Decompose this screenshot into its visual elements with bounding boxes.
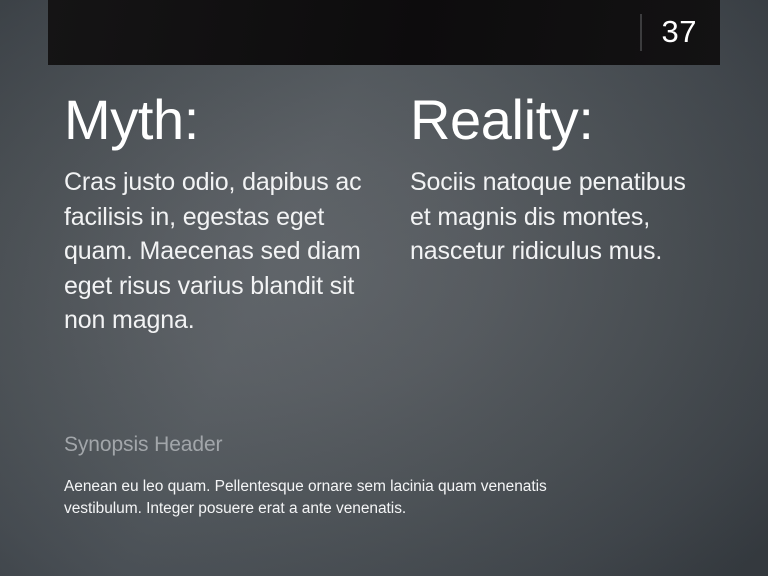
- column-myth: Myth: Cras justo odio, dapibus ac facili…: [64, 89, 384, 338]
- header-divider: [640, 14, 642, 51]
- synopsis-section: Synopsis Header Aenean eu leo quam. Pell…: [64, 432, 624, 520]
- page-number: 37: [662, 11, 697, 53]
- column-reality-title: Reality:: [410, 89, 720, 151]
- column-myth-body: Cras justo odio, dapibus ac facilisis in…: [64, 165, 364, 338]
- column-myth-title: Myth:: [64, 89, 384, 151]
- slide-header-bar: 37: [48, 0, 720, 65]
- presentation-slide: 37 Myth: Cras justo odio, dapibus ac fac…: [0, 0, 768, 576]
- synopsis-body: Aenean eu leo quam. Pellentesque ornare …: [64, 476, 564, 520]
- slide-content: Myth: Cras justo odio, dapibus ac facili…: [0, 65, 768, 576]
- synopsis-header: Synopsis Header: [64, 432, 624, 458]
- column-reality-body: Sociis natoque penatibus et magnis dis m…: [410, 165, 706, 269]
- column-reality: Reality: Sociis natoque penatibus et mag…: [410, 89, 720, 269]
